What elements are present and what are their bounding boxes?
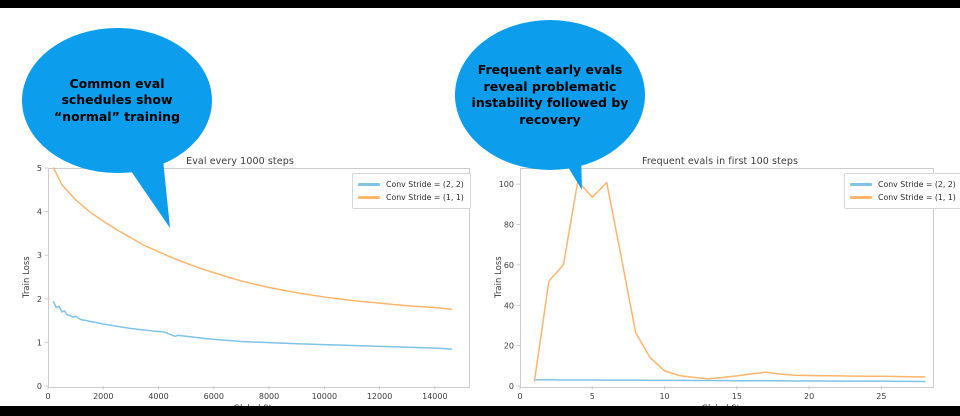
svg-text:0: 0	[509, 382, 514, 391]
callout-bubble-right[interactable]: Frequent early evals reveal problematic …	[455, 20, 645, 170]
legend-item[interactable]: Conv Stride = (2, 2)	[358, 178, 464, 191]
svg-text:25: 25	[876, 392, 886, 401]
svg-text:0: 0	[45, 392, 50, 401]
svg-text:1: 1	[37, 338, 42, 347]
svg-text:20: 20	[804, 392, 814, 401]
legend-label: Conv Stride = (2, 2)	[386, 180, 464, 189]
x-axis-label-left: Global Step	[148, 404, 368, 406]
svg-text:0: 0	[37, 382, 42, 391]
svg-text:80: 80	[504, 221, 514, 230]
legend-item[interactable]: Conv Stride = (1, 1)	[850, 191, 956, 204]
legend-item[interactable]: Conv Stride = (2, 2)	[850, 178, 956, 191]
svg-text:40: 40	[504, 301, 514, 310]
legend-swatch-orange-icon	[850, 196, 872, 198]
y-axis-label-right: Train Loss	[494, 256, 504, 298]
svg-text:5: 5	[37, 164, 42, 173]
legend-swatch-orange-icon	[358, 196, 380, 198]
svg-text:15: 15	[732, 392, 742, 401]
legend-swatch-blue-icon	[358, 183, 380, 185]
legend-item[interactable]: Conv Stride = (1, 1)	[358, 191, 464, 204]
figure-canvas: Eval every 1000 steps 020004000600080001…	[0, 8, 960, 406]
svg-text:4000: 4000	[148, 392, 168, 401]
y-axis-label-left: Train Loss	[22, 256, 32, 298]
svg-text:60: 60	[504, 261, 514, 270]
legend-label: Conv Stride = (2, 2)	[878, 180, 956, 189]
legend-label: Conv Stride = (1, 1)	[386, 193, 464, 202]
legend-label: Conv Stride = (1, 1)	[878, 193, 956, 202]
svg-text:100: 100	[499, 180, 514, 189]
callout-text-right: Frequent early evals reveal problematic …	[455, 62, 645, 128]
svg-text:14000: 14000	[422, 392, 447, 401]
svg-text:12000: 12000	[367, 392, 392, 401]
svg-text:0: 0	[517, 392, 522, 401]
svg-text:2: 2	[37, 295, 42, 304]
svg-text:5: 5	[590, 392, 595, 401]
svg-text:10: 10	[659, 392, 669, 401]
callout-bubble-left[interactable]: Common eval schedules show “normal” trai…	[22, 28, 212, 173]
callout-text-left: Common eval schedules show “normal” trai…	[22, 76, 212, 126]
legend-left[interactable]: Conv Stride = (2, 2) Conv Stride = (1, 1…	[352, 173, 471, 209]
legend-swatch-blue-icon	[850, 183, 872, 185]
svg-text:8000: 8000	[259, 392, 279, 401]
x-axis-label-right: Global Step	[616, 404, 836, 406]
legend-right[interactable]: Conv Stride = (2, 2) Conv Stride = (1, 1…	[844, 173, 960, 209]
svg-text:4: 4	[37, 208, 42, 217]
svg-text:20: 20	[504, 342, 514, 351]
svg-text:3: 3	[37, 251, 42, 260]
svg-text:10000: 10000	[312, 392, 337, 401]
svg-text:6000: 6000	[204, 392, 224, 401]
svg-text:2000: 2000	[93, 392, 113, 401]
